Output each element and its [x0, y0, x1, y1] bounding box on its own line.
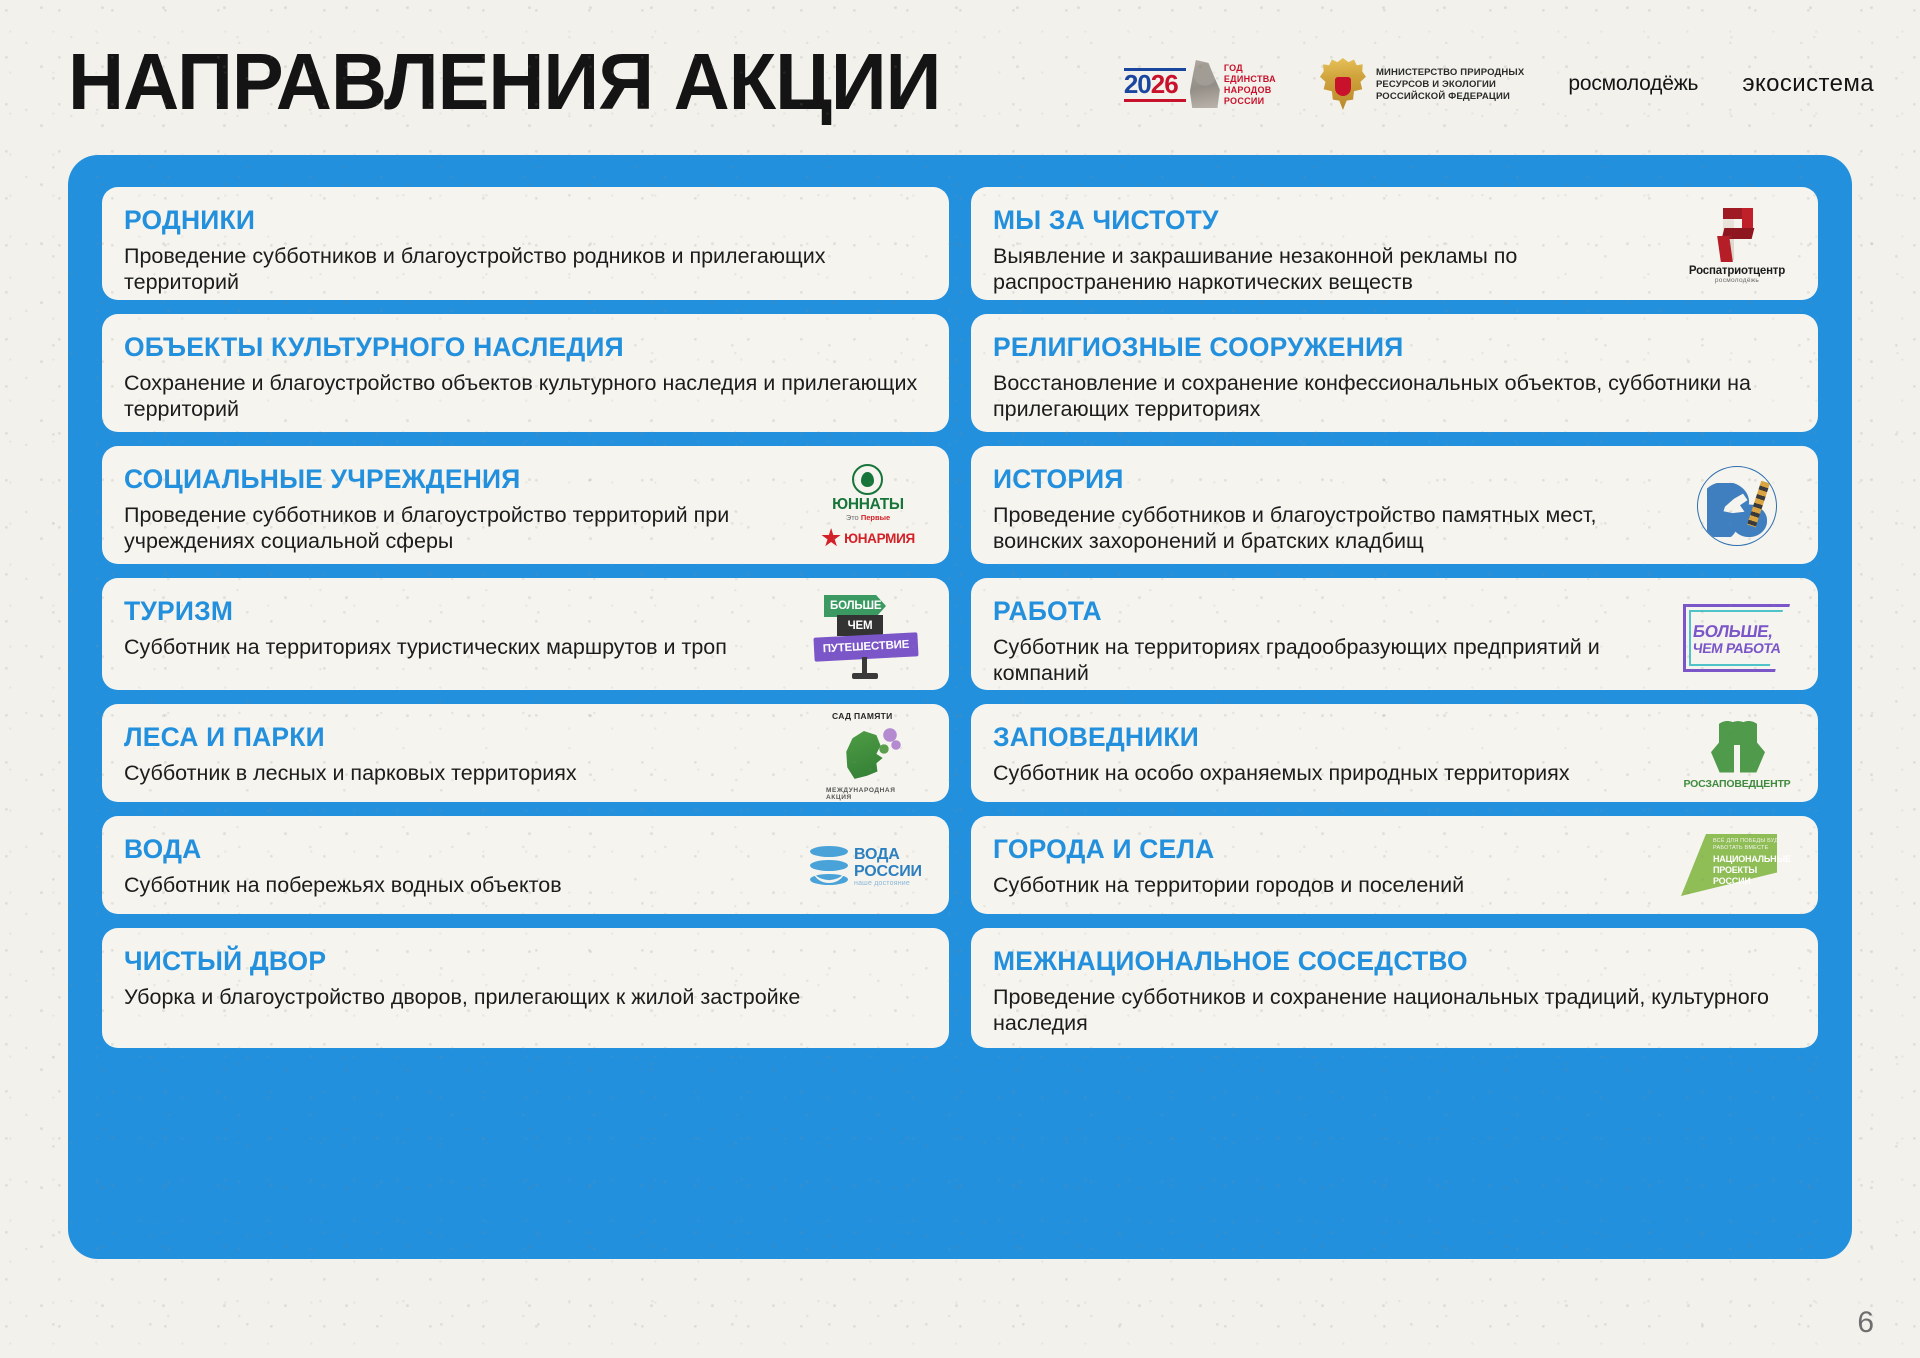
card-lesa-i-parki[interactable]: ЛЕСА И ПАРКИ Субботник в лесных и парков…: [102, 704, 949, 802]
rospatriotcentr-logo: Роспатриотцентр росмолодёжь: [1681, 199, 1793, 291]
directions-panel: РОДНИКИ Проведение субботников и благоус…: [68, 155, 1852, 1259]
card-description: Выявление и закрашивание незаконной рекл…: [993, 243, 1670, 295]
card-goroda-i-sela[interactable]: ГОРОДА И СЕЛА Субботник на территории го…: [971, 816, 1818, 914]
card-logo-slot: ВСЁ ДЛЯ ПОБЕДЫ БУДЕМ РАБОТАТЬ ВМЕСТЕ НАЦ…: [1678, 834, 1796, 898]
card-mezhnacionalnoe-sosedstvo[interactable]: МЕЖНАЦИОНАЛЬНОЕ СОСЕДСТВО Проведение суб…: [971, 928, 1818, 1048]
yunarmiya-logo: ЮНАРМИЯ: [821, 528, 915, 548]
yunnaty-logo: ЮННАТЫ Это Первые: [832, 464, 904, 522]
np-top-label: ВСЁ ДЛЯ ПОБЕДЫ БУДЕМ РАБОТАТЬ ВМЕСТЕ: [1713, 838, 1795, 852]
logo-caption: РОСЗАПОВЕДЦЕНТР: [1684, 778, 1791, 790]
card-description: Проведение субботников и благоустройство…: [993, 502, 1670, 554]
yunarmiya-label: ЮНАРМИЯ: [844, 531, 915, 546]
card-title: РОДНИКИ: [124, 205, 911, 235]
card-title: ВОДА: [124, 834, 787, 864]
card-title: ЧИСТЫЙ ДВОР: [124, 946, 911, 976]
card-description: Субботник на территориях градообразующих…: [993, 634, 1670, 686]
monument-icon: [1190, 60, 1220, 108]
yunnaty-label: ЮННАТЫ: [832, 496, 904, 513]
card-voda[interactable]: ВОДА Субботник на побережьях водных объе…: [102, 816, 949, 914]
unity-line-3: НАРОДОВ: [1224, 85, 1276, 95]
sad-pamyati-logo: САД ПАМЯТИ МЕЖДУНАРОДНАЯ АКЦИЯ: [816, 707, 920, 801]
card-obekty-kulturnogo-naslediya[interactable]: ОБЪЕКТЫ КУЛЬТУРНОГО НАСЛЕДИЯ Сохранение …: [102, 314, 949, 432]
card-description: Проведение субботников и благоустройство…: [124, 502, 801, 554]
card-description: Уборка и благоустройство дворов, прилега…: [124, 984, 927, 1010]
card-description: Субботник на особо охраняемых природных …: [993, 760, 1670, 786]
card-logo-slot: [1678, 464, 1796, 548]
logo-subcaption: МЕЖДУНАРОДНАЯ АКЦИЯ: [826, 787, 920, 801]
np-label: НАЦИОНАЛЬНЫЕ ПРОЕКТЫ РОССИИ: [1713, 854, 1791, 887]
card-description: Субботник на территориях туристических м…: [124, 634, 801, 660]
card-description: Проведение субботников и сохранение наци…: [993, 984, 1796, 1036]
ecosystem-logo: экосистема: [1742, 70, 1874, 98]
card-logo-slot: БОЛЬШЕ, ЧЕМ РАБОТА: [1678, 596, 1796, 674]
signpost-base-icon: [852, 673, 878, 679]
card-title: ТУРИЗМ: [124, 596, 787, 626]
card-title: РЕЛИГИОЗНЫЕ СООРУЖЕНИЯ: [993, 332, 1780, 362]
card-title: ИСТОРИЯ: [993, 464, 1656, 494]
yunnaty-subcaption: Это Первые: [846, 513, 890, 522]
card-logo-slot: РОСЗАПОВЕДЦЕНТР: [1678, 722, 1796, 786]
card-title: РАБОТА: [993, 596, 1656, 626]
card-title: МЕЖНАЦИОНАЛЬНОЕ СОСЕДСТВО: [993, 946, 1780, 976]
card-my-za-chistotu[interactable]: МЫ ЗА ЧИСТОТУ Выявление и закрашивание н…: [971, 187, 1818, 300]
slide-header: НАПРАВЛЕНИЯ АКЦИИ 2026 ГОД ЕДИНСТВА НАРО…: [0, 0, 1920, 150]
unity-line-1: ГОД: [1224, 63, 1276, 73]
card-title: МЫ ЗА ЧИСТОТУ: [993, 205, 1656, 235]
page-number: 6: [1857, 1306, 1874, 1340]
card-title: ОБЪЕКТЫ КУЛЬТУРНОГО НАСЛЕДИЯ: [124, 332, 911, 362]
year-of-unity-2026-logo: 2026 ГОД ЕДИНСТВА НАРОДОВ РОССИИ: [1124, 56, 1276, 112]
unity-line-2: ЕДИНСТВА: [1224, 74, 1276, 84]
bcr-label-1: БОЛЬШЕ,: [1692, 622, 1774, 642]
ribbon-r-icon: [1709, 206, 1765, 262]
voda-subcaption: наше достояние: [854, 880, 922, 887]
card-religioznye-sooruzheniya[interactable]: РЕЛИГИОЗНЫЕ СООРУЖЕНИЯ Восстановление и …: [971, 314, 1818, 432]
signpost-label-1: БОЛЬШЕ: [824, 595, 886, 617]
star-icon: [821, 528, 841, 548]
water-drops-icon: [810, 844, 848, 888]
voda-label-2: РОССИИ: [854, 863, 922, 880]
bolshe-chem-rabota-logo: БОЛЬШЕ, ЧЕМ РАБОТА: [1679, 592, 1795, 678]
yunnaty-yunarmiya-logo: ЮННАТЫ Это Первые ЮНАРМИЯ: [812, 464, 924, 548]
card-description: Субботник в лесных и парковых территория…: [124, 760, 801, 786]
card-logo-slot: Роспатриотцентр росмолодёжь: [1678, 205, 1796, 284]
card-socialnye-uchrezhdeniya[interactable]: СОЦИАЛЬНЫЕ УЧРЕЖДЕНИЯ Проведение субботн…: [102, 446, 949, 564]
card-description: Субботник на территории городов и поселе…: [993, 872, 1670, 898]
card-title: СОЦИАЛЬНЫЕ УЧРЕЖДЕНИЯ: [124, 464, 787, 494]
card-rabota[interactable]: РАБОТА Субботник на территориях градообр…: [971, 578, 1818, 690]
voda-rossii-logo: ВОДА РОССИИ наше достояние: [810, 829, 926, 903]
card-istoriya[interactable]: ИСТОРИЯ Проведение субботников и благоус…: [971, 446, 1818, 564]
card-logo-slot: САД ПАМЯТИ МЕЖДУНАРОДНАЯ АКЦИЯ: [809, 722, 927, 786]
card-logo-slot: ВОДА РОССИИ наше достояние: [809, 834, 927, 898]
card-description: Проведение субботников и благоустройство…: [124, 243, 927, 295]
year-prefix: 20: [1124, 69, 1151, 99]
logo-caption: САД ПАМЯТИ: [832, 711, 893, 721]
branch-icon: [872, 727, 902, 767]
ministry-line-3: РОССИЙСКОЙ ФЕДЕРАЦИИ: [1376, 91, 1524, 102]
card-title: ЗАПОВЕДНИКИ: [993, 722, 1656, 752]
unity-line-4: РОССИИ: [1224, 96, 1276, 106]
card-description: Восстановление и сохранение конфессионал…: [993, 370, 1796, 422]
header-logo-group: 2026 ГОД ЕДИНСТВА НАРОДОВ РОССИИ МИНИСТЕ…: [1124, 52, 1874, 116]
logo-caption: Роспатриотцентр: [1689, 265, 1785, 277]
flag-bar-red: [1124, 99, 1186, 102]
year-suffix: 26: [1151, 69, 1178, 99]
voda-label-1: ВОДА: [854, 846, 922, 863]
leaf-circle-icon: [852, 464, 883, 495]
page-title: НАПРАВЛЕНИЯ АКЦИИ: [68, 42, 940, 122]
card-title: ЛЕСА И ПАРКИ: [124, 722, 787, 752]
ministry-line-2: РЕСУРСОВ И ЭКОЛОГИИ: [1376, 79, 1524, 90]
rosmolodezh-logo: росмолодёжь: [1568, 72, 1698, 96]
card-description: Сохранение и благоустройство объектов ку…: [124, 370, 927, 422]
bolshe-chem-puteshestvie-logo: БОЛЬШЕ ЧЕМ ПУТЕШЕСТВИЕ: [812, 587, 924, 683]
card-logo-slot: ЮННАТЫ Это Первые ЮНАРМИЯ: [809, 464, 927, 548]
signpost-label-2: ЧЕМ: [837, 615, 883, 636]
roszapovedcentr-logo: РОСЗАПОВЕДЦЕНТР: [1681, 708, 1793, 800]
coat-of-arms-icon: [1320, 58, 1366, 110]
globe-dove-icon: [1697, 466, 1777, 546]
ministry-logo: МИНИСТЕРСТВО ПРИРОДНЫХ РЕСУРСОВ И ЭКОЛОГ…: [1320, 58, 1524, 110]
nacproekty-rossii-logo: ВСЁ ДЛЯ ПОБЕДЫ БУДЕМ РАБОТАТЬ ВМЕСТЕ НАЦ…: [1679, 824, 1795, 908]
card-turizm[interactable]: ТУРИЗМ Субботник на территориях туристич…: [102, 578, 949, 690]
volontery-pobedy-logo: [1681, 460, 1793, 552]
card-logo-slot: БОЛЬШЕ ЧЕМ ПУТЕШЕСТВИЕ: [809, 596, 927, 674]
card-description: Субботник на побережьях водных объектов: [124, 872, 801, 898]
logo-subcaption: росмолодёжь: [1715, 277, 1759, 284]
ministry-line-1: МИНИСТЕРСТВО ПРИРОДНЫХ: [1376, 67, 1524, 78]
card-chistyy-dvor[interactable]: ЧИСТЫЙ ДВОР Уборка и благоустройство дво…: [102, 928, 949, 1048]
card-title: ГОРОДА И СЕЛА: [993, 834, 1656, 864]
card-rodniki[interactable]: РОДНИКИ Проведение субботников и благоус…: [102, 187, 949, 300]
hands-tree-icon: [1707, 719, 1767, 775]
bcr-label-2: ЧЕМ РАБОТА: [1692, 640, 1782, 656]
card-zapovedniki[interactable]: ЗАПОВЕДНИКИ Субботник на особо охраняемы…: [971, 704, 1818, 802]
